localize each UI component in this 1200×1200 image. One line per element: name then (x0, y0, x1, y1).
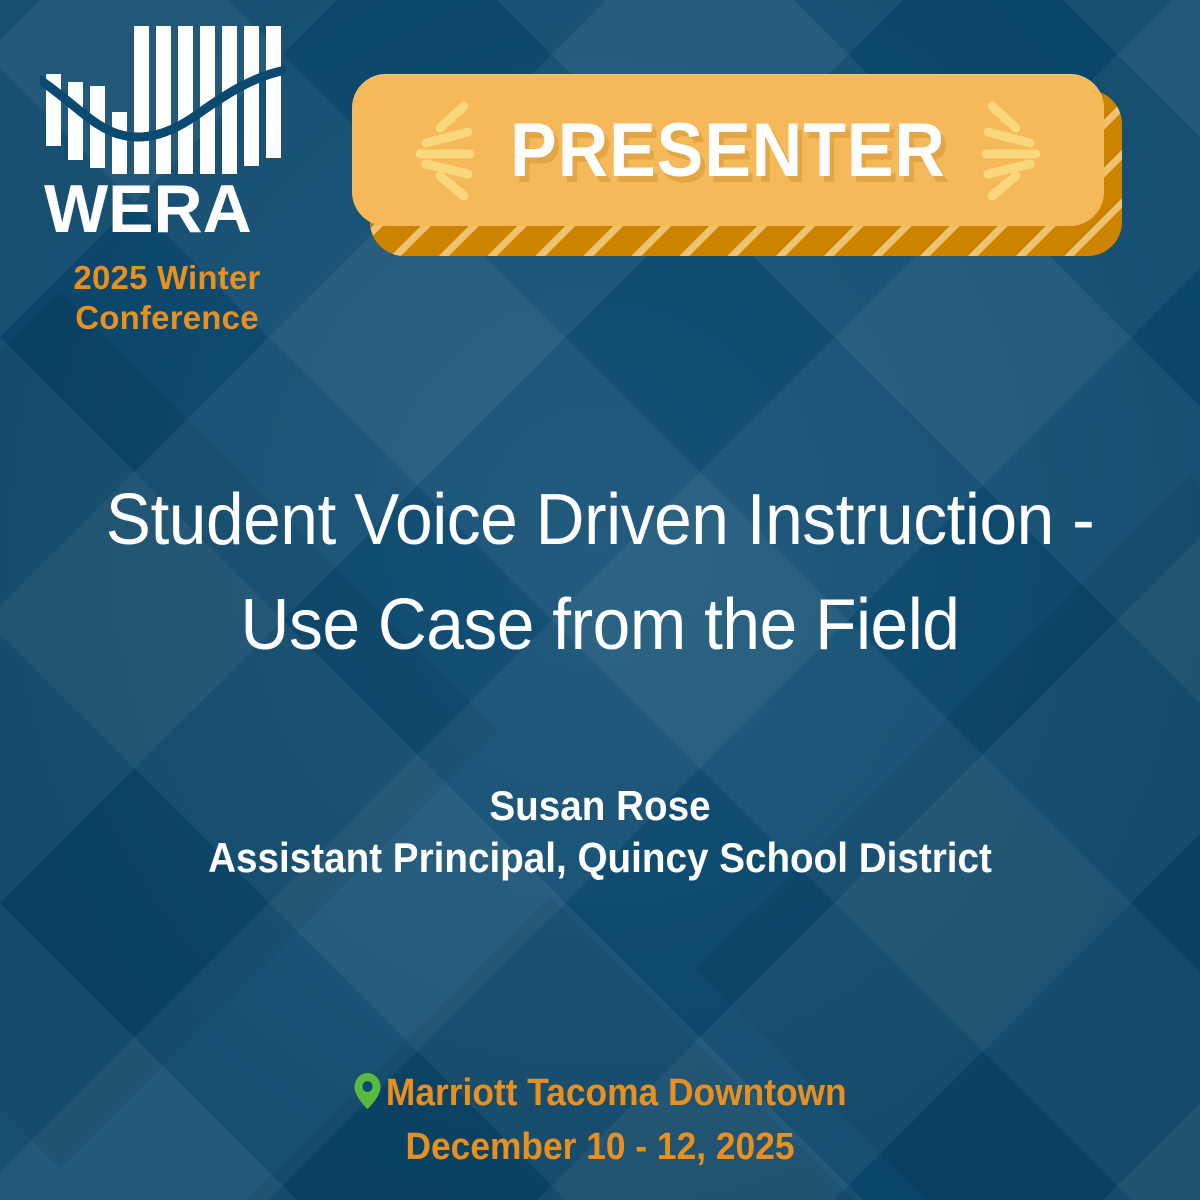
event-venue-row: Marriott Tacoma Downtown (98, 1068, 1102, 1118)
event-footer: Marriott Tacoma Downtown December 10 - 1… (60, 1068, 1140, 1172)
presenter-role: Assistant Principal, Quincy School Distr… (103, 832, 1097, 884)
conference-name-line1: 2025 Winter (44, 258, 290, 298)
event-venue: Marriott Tacoma Downtown (386, 1072, 847, 1114)
svg-text:WERA: WERA (44, 176, 252, 244)
presenter-info: Susan Rose Assistant Principal, Quincy S… (60, 780, 1140, 884)
event-dates: December 10 - 12, 2025 (98, 1122, 1102, 1172)
map-pin-icon (353, 1072, 381, 1110)
session-title-line1: Student Voice Driven Instruction - (92, 468, 1107, 573)
badge-label: PRESENTER (382, 74, 1074, 226)
presenter-badge: PRESENTER (352, 74, 1122, 256)
session-title-line2: Use Case from the Field (92, 573, 1107, 678)
session-title: Student Voice Driven Instruction - Use C… (92, 468, 1107, 678)
wera-wordmark: WERA (44, 176, 282, 244)
badge-face: PRESENTER (352, 74, 1104, 226)
conference-name-line2: Conference (44, 298, 290, 338)
wera-bars-wave-logo-icon (40, 22, 286, 174)
presenter-announcement-poster: WERA 2025 Winter Conference (0, 0, 1200, 1200)
wera-logo: WERA 2025 Winter Conference (40, 22, 340, 338)
presenter-name: Susan Rose (103, 780, 1097, 832)
